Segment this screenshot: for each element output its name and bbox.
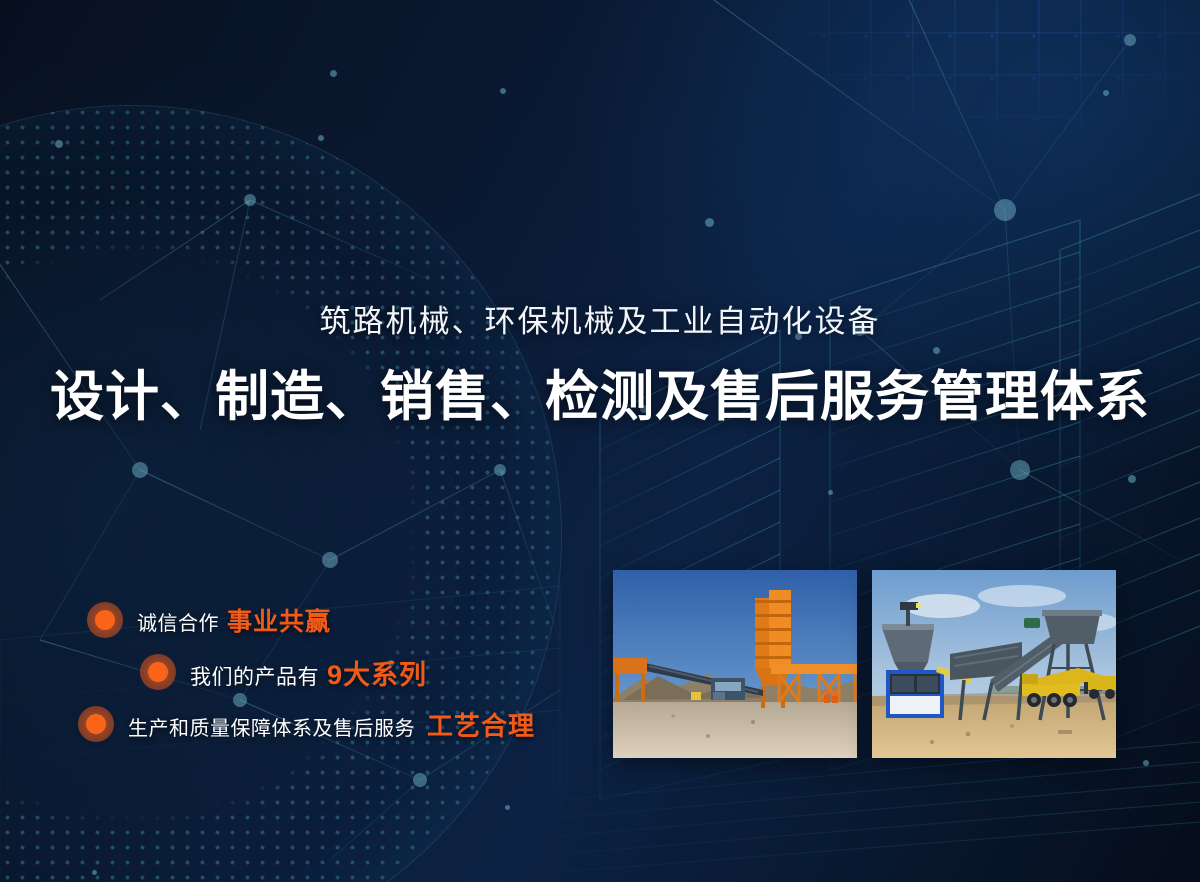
banner-subtitle: 筑路机械、环保机械及工业自动化设备 [0, 303, 1200, 342]
bullet-dot-icon [140, 654, 176, 690]
feature-text: 诚信合作事业共赢 [137, 602, 331, 638]
photo-batching-plant: concrete-batching-plant-with-orange-silo… [613, 570, 857, 758]
photo-batching-plant-art [613, 570, 857, 758]
banner-headline: 设计、制造、销售、检测及售后服务管理体系 [0, 366, 1200, 428]
globe-outline-icon [0, 105, 562, 882]
photo-mobile-plant-art [872, 570, 1116, 758]
bullet-dot-icon [78, 706, 114, 742]
feature-highlight: 工艺合理 [427, 711, 535, 741]
feature-highlight: 9大系列 [327, 660, 427, 690]
feature-text: 生产和质量保障体系及售后服务工艺合理 [128, 706, 535, 743]
dotted-globe-icon [0, 105, 560, 882]
list-item: 我们的产品有9大系列 [0, 648, 600, 696]
photo-mobile-plant: mobile-batching-plant-with-grey-hoppers-… [872, 570, 1116, 758]
feature-label: 生产和质量保障体系及售后服务 [128, 718, 415, 740]
feature-label: 诚信合作 [137, 613, 219, 635]
feature-list: 诚信合作事业共赢 我们的产品有9大系列 生产和质量保障体系及售后服务工艺合理 [0, 596, 600, 752]
square-grid-pattern [660, 0, 1200, 250]
feature-highlight: 事业共赢 [227, 608, 331, 636]
bullet-dot-icon [87, 602, 123, 638]
square-grid-dots [656, 0, 1200, 244]
list-item: 诚信合作事业共赢 [0, 596, 600, 644]
feature-text: 我们的产品有9大系列 [190, 653, 427, 692]
promo-banner: 筑路机械、环保机械及工业自动化设备 设计、制造、销售、检测及售后服务管理体系 诚… [0, 0, 1200, 882]
feature-label: 我们的产品有 [190, 666, 319, 689]
list-item: 生产和质量保障体系及售后服务工艺合理 [0, 700, 600, 748]
